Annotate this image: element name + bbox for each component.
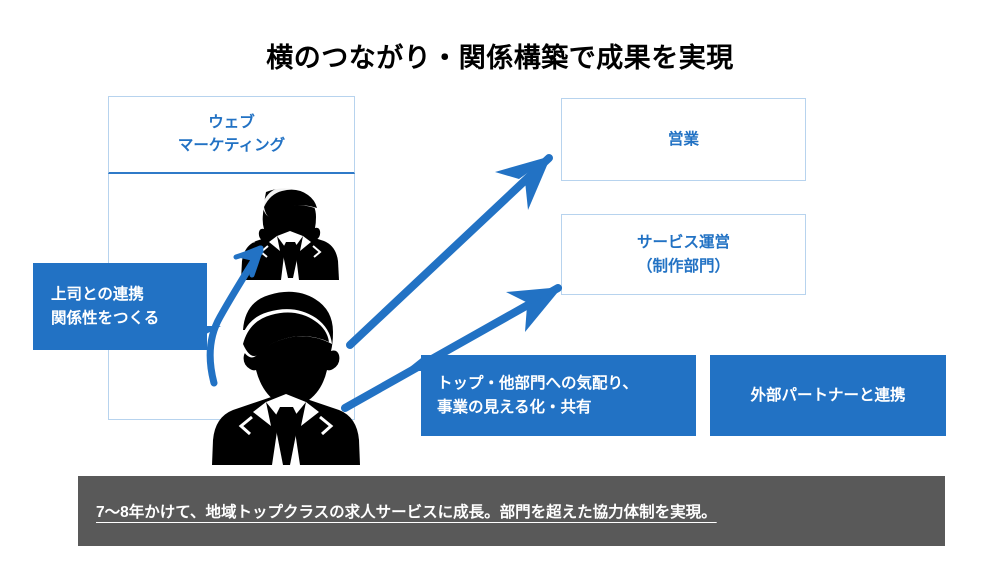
sales-box[interactable]: 営業 bbox=[561, 98, 806, 181]
service-operations-label-line2: （制作部門） bbox=[637, 255, 730, 278]
callout-external-partner-label: 外部パートナーと連携 bbox=[750, 384, 905, 407]
summary-bar-text: 7〜8年かけて、地域トップクラスの求人サービスに成長。部門を超えた協力体制を実現… bbox=[96, 500, 717, 522]
page-title: 横のつながり・関係構築で成果を実現 bbox=[0, 36, 1000, 75]
web-marketing-label-line2: マーケティング bbox=[178, 135, 285, 157]
service-operations-label-line1: サービス運営 bbox=[637, 231, 730, 254]
slide-canvas: 横のつながり・関係構築で成果を実現 ウェブ マーケティング 営業 サービス運営 … bbox=[0, 0, 1000, 563]
callout-boss-line1: 上司との連携 bbox=[51, 283, 159, 306]
arrow-to-sales-icon bbox=[350, 156, 551, 345]
callout-top-departments[interactable]: トップ・他部門への気配り、 事業の見える化・共有 bbox=[421, 355, 696, 436]
web-marketing-header: ウェブ マーケティング bbox=[108, 96, 355, 174]
summary-bar: 7〜8年かけて、地域トップクラスの求人サービスに成長。部門を超えた協力体制を実現… bbox=[78, 476, 945, 546]
callout-boss-line2: 関係性をつくる bbox=[51, 307, 159, 330]
web-marketing-label-line1: ウェブ bbox=[178, 112, 285, 134]
sales-box-label: 営業 bbox=[668, 128, 699, 151]
callout-top-departments-line1: トップ・他部門への気配り、 bbox=[437, 372, 638, 395]
callout-top-departments-line2: 事業の見える化・共有 bbox=[437, 396, 638, 419]
service-operations-box[interactable]: サービス運営 （制作部門） bbox=[561, 214, 806, 295]
callout-external-partner[interactable]: 外部パートナーと連携 bbox=[710, 355, 946, 436]
callout-top-departments-tail bbox=[405, 355, 425, 371]
callout-boss[interactable]: 上司との連携 関係性をつくる bbox=[33, 263, 207, 350]
callout-boss-tail bbox=[195, 326, 221, 340]
